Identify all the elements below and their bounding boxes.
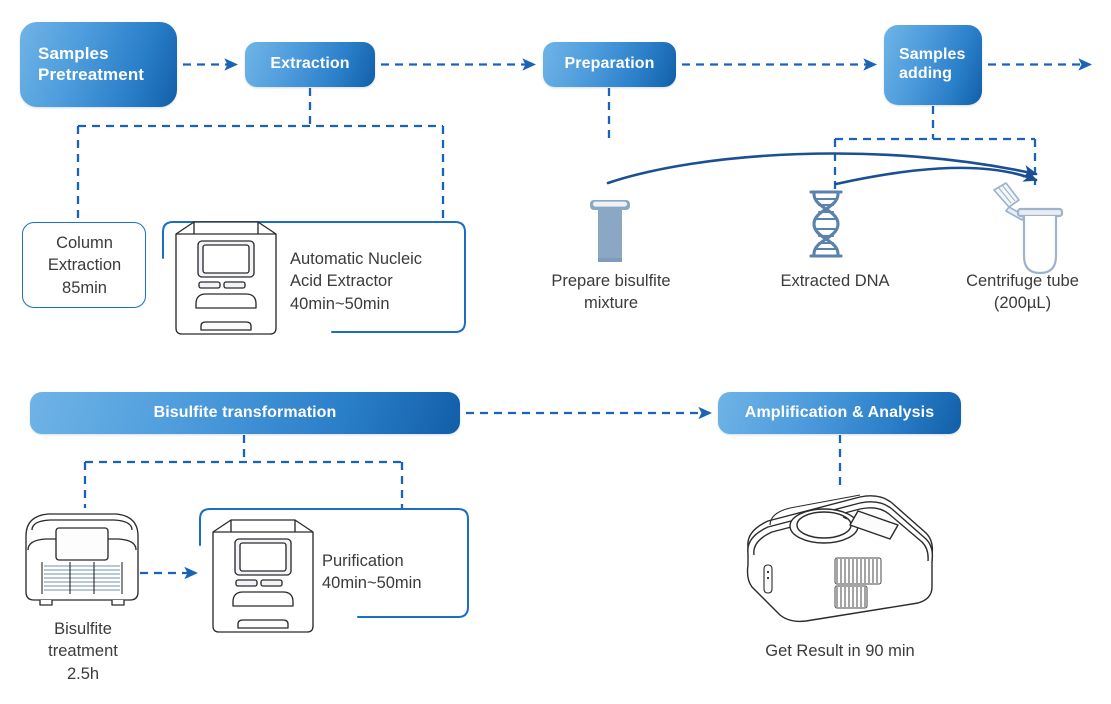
- option-automatic-extractor-label: Automatic Nucleic Acid Extractor 40min~5…: [290, 248, 470, 315]
- purification-label: Purification 40min~50min: [322, 550, 502, 595]
- centrifuge-tube-label: Centrifuge tube (200µL): [940, 270, 1105, 315]
- workflow-diagram: Samples Pretreatment Extraction Preparat…: [0, 0, 1111, 704]
- bisulfite-treatment-label: Bisulfite treatment 2.5h: [23, 618, 143, 685]
- step-label: Samples Pretreatment: [38, 44, 144, 84]
- get-result-label: Get Result in 90 min: [700, 640, 980, 662]
- nucleic-acid-extractor-icon: [213, 520, 313, 632]
- arrow-mixture-to-tube: [608, 154, 1036, 183]
- prepare-bisulfite-mixture-label: Prepare bisulfite mixture: [521, 270, 701, 315]
- step-label: Bisulfite transformation: [154, 404, 337, 423]
- option-column-extraction-label: Column Extraction 85min: [28, 232, 141, 299]
- step-label: Extraction: [270, 55, 349, 74]
- step-label: Preparation: [564, 55, 654, 74]
- nucleic-acid-extractor-icon: [176, 222, 276, 334]
- analyzer-instrument-icon: [748, 495, 933, 621]
- pipette-icon: [994, 183, 1025, 220]
- extracted-dna-label: Extracted DNA: [755, 270, 915, 292]
- step-label: Samples adding: [899, 46, 966, 84]
- test-tube-icon: [590, 200, 630, 262]
- step-label: Amplification & Analysis: [745, 404, 934, 423]
- step-samples-pretreatment[interactable]: Samples Pretreatment: [20, 22, 177, 107]
- step-preparation[interactable]: Preparation: [543, 42, 676, 87]
- dna-helix-icon: [811, 192, 841, 256]
- step-extraction[interactable]: Extraction: [245, 42, 375, 87]
- arrow-dna-to-tube: [836, 168, 1036, 184]
- step-samples-adding[interactable]: Samples adding: [884, 25, 982, 105]
- bracket-samples-adding: [835, 106, 1035, 189]
- bracket-bisulfite: [85, 435, 402, 508]
- step-amplification-analysis[interactable]: Amplification & Analysis: [718, 392, 961, 434]
- thermal-cycler-icon: [26, 514, 138, 605]
- centrifuge-tube-icon: [994, 183, 1062, 273]
- step-bisulfite-transformation[interactable]: Bisulfite transformation: [30, 392, 460, 434]
- bracket-extraction: [78, 88, 443, 222]
